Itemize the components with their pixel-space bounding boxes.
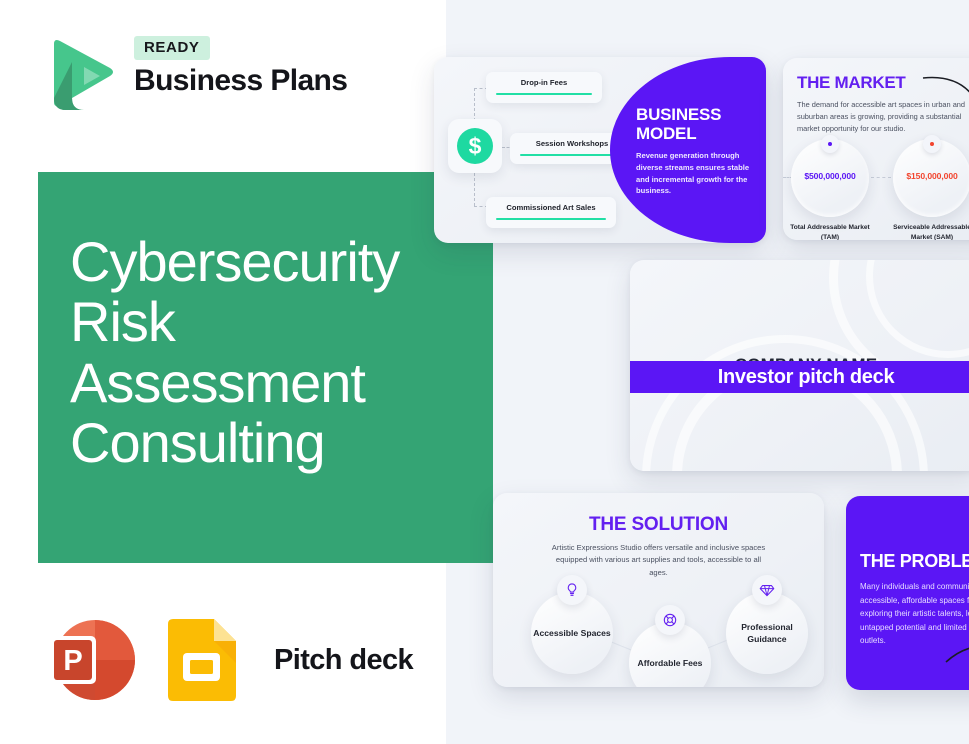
pitch-deck-banner: Investor pitch deck	[630, 361, 969, 393]
slide-market[interactable]: THE MARKET The demand for accessible art…	[783, 58, 969, 240]
slide-problem[interactable]: THE PROBLEM Many individuals and communi…	[846, 496, 969, 690]
market-metric-tam: $500,000,000	[791, 139, 869, 217]
revenue-stream-item[interactable]: Drop-in Fees	[486, 72, 602, 103]
solution-title: THE SOLUTION	[493, 514, 824, 536]
lightbulb-icon	[557, 575, 587, 605]
money-badge: $	[448, 119, 502, 173]
curved-arrow-icon	[944, 636, 969, 670]
play-mark-icon	[44, 36, 116, 114]
underline-bar	[520, 154, 624, 156]
market-title: THE MARKET	[797, 73, 905, 93]
diamond-icon	[752, 575, 782, 605]
metric-value: $500,000,000	[791, 171, 869, 181]
life-ring-icon	[655, 605, 685, 635]
business-model-panel: BUSINESS MODEL Revenue generation throug…	[610, 57, 766, 243]
poster-canvas: READY Business Plans Cybersecurity Risk …	[0, 0, 969, 744]
market-divider	[871, 177, 891, 178]
brand-title: Business Plans	[134, 65, 347, 97]
brand-logo[interactable]: READY Business Plans	[40, 30, 370, 122]
slide-business-model[interactable]: $ Drop-in Fees Session Workshops Commiss…	[434, 57, 766, 243]
revenue-stream-item[interactable]: Commissioned Art Sales	[486, 197, 616, 228]
business-model-body: Revenue generation through diverse strea…	[636, 150, 752, 197]
powerpoint-icon: P	[44, 616, 136, 704]
slide-pitch-deck-cover[interactable]: COMPANY NAME Investor pitch deck	[630, 260, 969, 471]
solution-pillar-label: Affordable Fees	[638, 657, 703, 669]
revenue-stream-label: Drop-in Fees	[496, 78, 592, 87]
page-title-line-3: Assessment	[70, 353, 490, 413]
metric-dot-indicator	[821, 135, 839, 153]
business-model-title-line-1: BUSINESS	[636, 105, 721, 124]
market-metric-sam: $150,000,000	[893, 139, 969, 217]
page-title-line-1: Cybersecurity	[70, 232, 490, 292]
underline-bar	[496, 218, 606, 220]
pitch-deck-banner-label: Investor pitch deck	[630, 361, 969, 393]
dollar-icon: $	[457, 128, 493, 164]
slide-solution[interactable]: THE SOLUTION Artistic Expressions Studio…	[493, 493, 824, 687]
brand-text: READY Business Plans	[134, 36, 347, 97]
underline-bar	[496, 93, 592, 95]
metric-caption: Serviceable Addressable Market (SAM)	[884, 223, 969, 240]
metric-dot-indicator	[923, 135, 941, 153]
business-model-title-line-2: MODEL	[636, 124, 721, 143]
market-body: The demand for accessible art spaces in …	[797, 99, 969, 135]
problem-title: THE PROBLEM	[860, 551, 969, 572]
metric-caption: Total Addressable Market (TAM)	[783, 223, 878, 240]
ready-badge: READY	[134, 36, 210, 60]
business-model-title: BUSINESS MODEL	[636, 105, 721, 143]
revenue-stream-label: Session Workshops	[520, 139, 624, 148]
metric-value: $150,000,000	[893, 171, 969, 181]
page-title-line-4: Consulting	[70, 413, 490, 473]
solution-pillar-label: Accessible Spaces	[533, 627, 610, 639]
solution-pillar-label: Professional Guidance	[726, 621, 808, 646]
page-title: Cybersecurity Risk Assessment Consulting	[70, 232, 490, 474]
revenue-stream-label: Commissioned Art Sales	[496, 203, 606, 212]
svg-text:P: P	[63, 645, 82, 677]
solution-body: Artistic Expressions Studio offers versa…	[549, 542, 769, 579]
page-title-line-2: Risk	[70, 292, 490, 352]
google-slides-icon	[164, 618, 238, 702]
format-label: Pitch deck	[274, 644, 413, 677]
